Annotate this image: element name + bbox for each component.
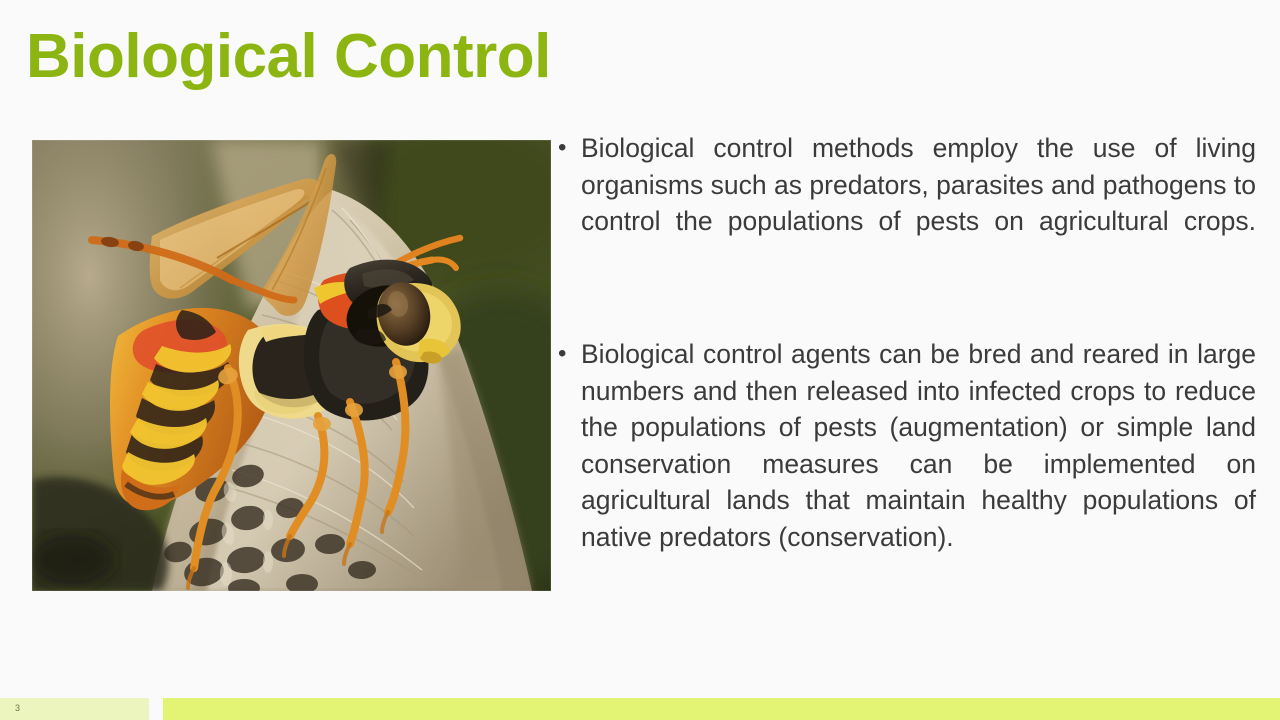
slide-image [32,140,551,591]
footer-bar-left [0,698,149,720]
bullet-item: • Biological control methods employ the … [558,130,1256,276]
paper-wasp-on-nest-photo [32,140,551,591]
bullet-item: • Biological control agents can be bred … [558,336,1256,555]
slide-body: • Biological control methods employ the … [558,130,1256,555]
bullet-marker: • [558,130,581,167]
bullet-spacer [558,276,1256,336]
slide-number: 3 [15,702,20,714]
bullet-text: Biological control methods employ the us… [581,130,1256,276]
footer-bar-right [163,698,1280,720]
bullet-marker: • [558,336,581,373]
page-title: Biological Control [26,24,551,90]
bullet-text: Biological control agents can be bred an… [581,336,1256,555]
presentation-slide: Biological Control [0,0,1280,720]
